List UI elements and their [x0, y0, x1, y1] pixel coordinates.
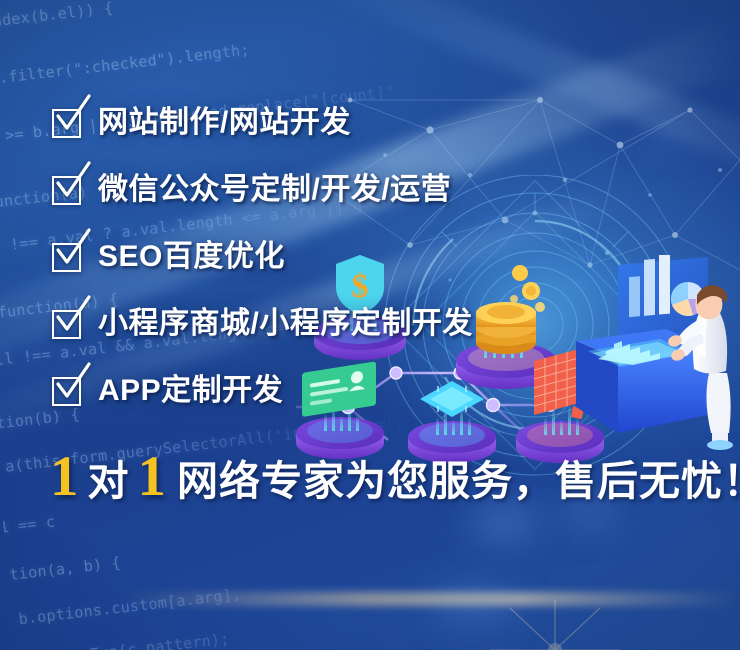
feature-item-label: 小程序商城/小程序定制开发 — [98, 309, 473, 339]
feature-item-label: 微信公众号定制/开发/运营 — [98, 175, 451, 205]
feature-item-app[interactable]: APP定制开发 — [52, 367, 473, 415]
headline-number-first: 1 — [50, 448, 79, 505]
checked-checkbox-icon — [52, 109, 81, 138]
feature-item-label: SEO百度优化 — [98, 242, 285, 272]
feature-item-wechat[interactable]: 微信公众号定制/开发/运营 — [52, 166, 473, 214]
headline-tail-text: 网络专家为您服务，售后无忧！ — [177, 461, 740, 502]
feature-item-label: APP定制开发 — [98, 376, 283, 406]
feature-item-label: 网站制作/网站开发 — [98, 108, 351, 138]
feature-list: 网站制作/网站开发 微信公众号定制/开发/运营 SEO百度优化 小程序商城/小程… — [52, 99, 473, 434]
feature-item-seo[interactable]: SEO百度优化 — [52, 233, 473, 281]
checked-checkbox-icon — [52, 176, 81, 205]
checked-checkbox-icon — [52, 377, 81, 406]
feature-item-website[interactable]: 网站制作/网站开发 — [52, 99, 473, 147]
promotional-banner: g.querySelectorAll('input[type=checkbox]… — [0, 0, 740, 650]
headline-number-second: 1 — [138, 448, 167, 505]
headline-middle-word: 对 — [88, 461, 129, 502]
feature-item-miniprogram[interactable]: 小程序商城/小程序定制开发 — [52, 300, 473, 348]
checked-checkbox-icon — [52, 243, 81, 272]
headline-slogan: 1 对 1 网络专家为您服务，售后无忧！ — [50, 448, 740, 505]
checked-checkbox-icon — [52, 310, 81, 339]
